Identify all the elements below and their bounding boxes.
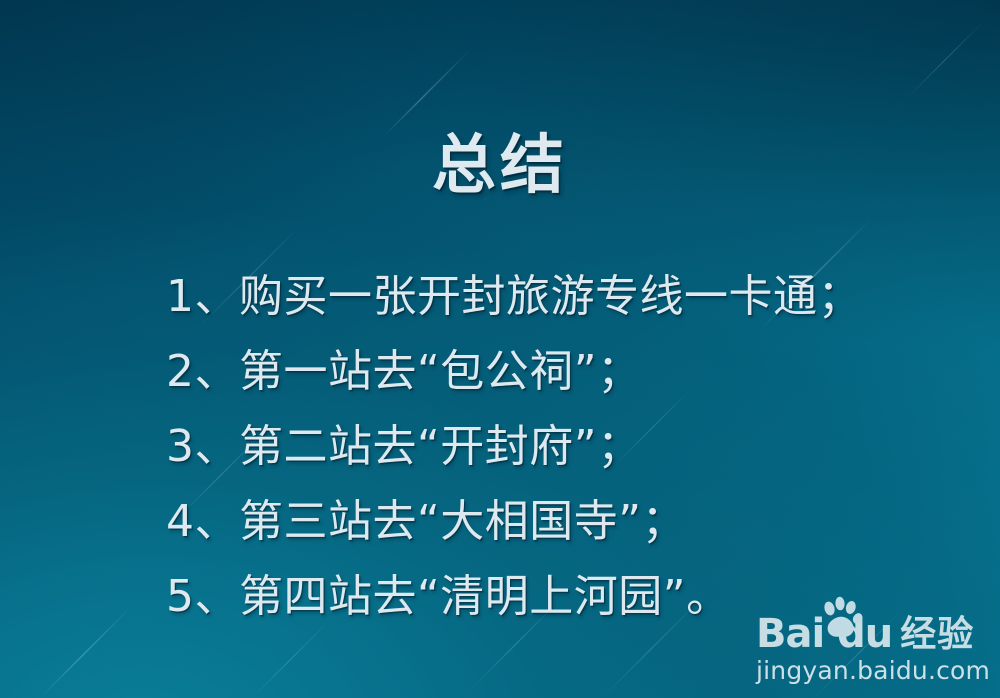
bullet-item-2: 2、第一站去“包公祠”；: [166, 334, 960, 409]
presentation-slide: 总结 1、购买一张开封旅游专线一卡通； 2、第一站去“包公祠”； 3、第二站去“…: [0, 0, 1000, 698]
watermark-url: jingyan.baidu.com: [756, 656, 988, 686]
summary-bullet-list: 1、购买一张开封旅游专线一卡通； 2、第一站去“包公祠”； 3、第二站去“开封府…: [166, 259, 960, 634]
slide-title: 总结: [0, 129, 1000, 205]
paw-print-icon: [819, 596, 863, 640]
watermark-logo-row: Bai du 经验: [756, 602, 988, 654]
bullet-item-3: 3、第二站去“开封府”；: [166, 409, 960, 484]
bullet-item-4: 4、第三站去“大相国寺”；: [166, 484, 960, 559]
bullet-item-1: 1、购买一张开封旅游专线一卡通；: [166, 259, 960, 334]
slide-content: 总结 1、购买一张开封旅游专线一卡通； 2、第一站去“包公祠”； 3、第二站去“…: [0, 0, 1000, 698]
baidu-jingyan-watermark: Bai du 经验 jingyan.baidu.com: [756, 602, 988, 688]
jingyan-cn-label: 经验: [900, 616, 974, 654]
